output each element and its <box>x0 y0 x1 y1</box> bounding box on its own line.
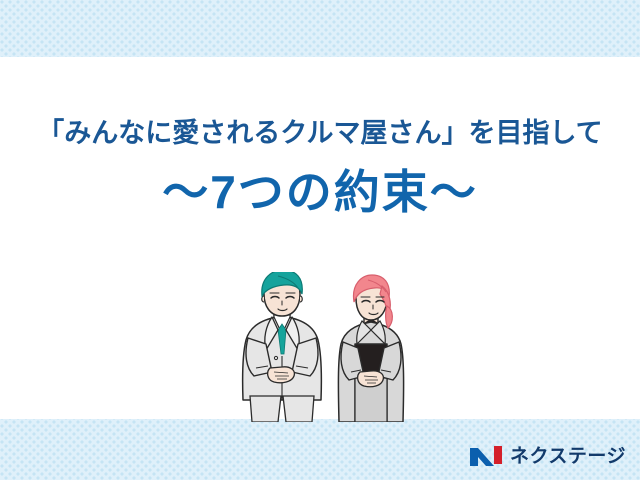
bowing-staff-icon <box>238 272 418 422</box>
female-staff-figure <box>338 275 403 422</box>
headline-block: 「みんなに愛されるクルマ屋さん」を目指して 〜7つの約束〜 <box>0 120 640 215</box>
headline-sub-text: 〜7つの約束〜 <box>0 169 640 215</box>
promotional-banner: 「みんなに愛されるクルマ屋さん」を目指して 〜7つの約束〜 <box>0 0 640 480</box>
nextage-n-mark-icon <box>469 444 503 468</box>
headline-main-text: 「みんなに愛されるクルマ屋さん」を目指して <box>0 120 640 147</box>
male-staff-figure <box>243 272 322 422</box>
staff-illustration <box>238 272 418 422</box>
nextage-logo: ネクステージ <box>469 444 626 468</box>
logo-text: ネクステージ <box>510 447 626 466</box>
